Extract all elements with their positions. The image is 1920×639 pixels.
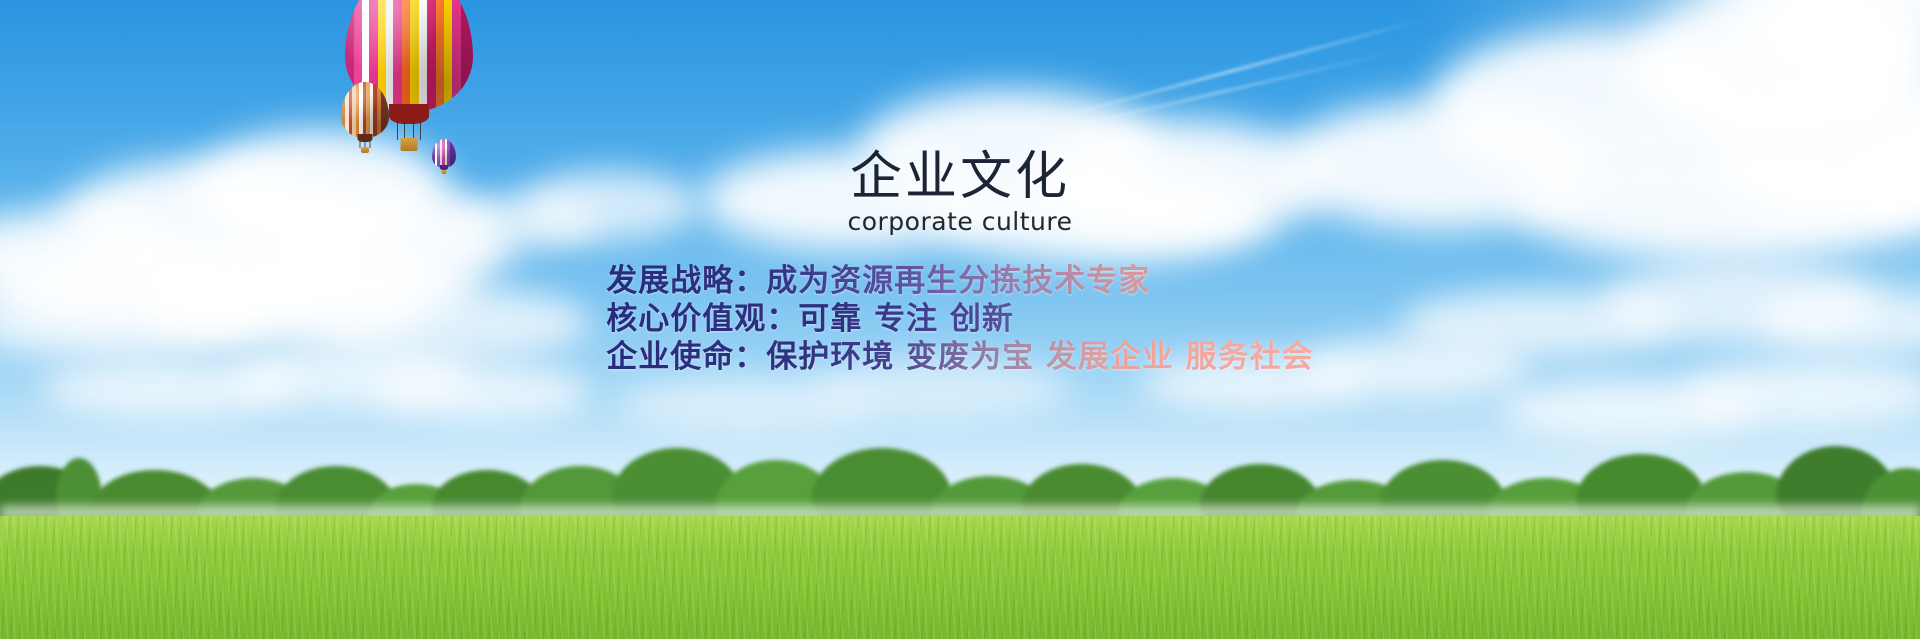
page-title: 企业文化 <box>0 150 1920 205</box>
balloon-envelope <box>341 82 389 138</box>
balloon-medium <box>341 82 389 154</box>
balloon-skirt <box>389 104 429 124</box>
page-subtitle: corporate culture <box>0 207 1920 236</box>
grass-field <box>0 516 1920 639</box>
statement-development-strategy: 发展战略：成为资源再生分拣技术专家 <box>606 262 1313 300</box>
sun-core-icon <box>1690 0 1920 120</box>
statement-core-values: 核心价值观：可靠 专注 创新 <box>606 300 1313 338</box>
statement-corporate-mission: 企业使命：保护环境 变废为宝 发展企业 服务社会 <box>606 338 1313 376</box>
corporate-culture-banner: 企业文化 corporate culture 发展战略：成为资源再生分拣技术专家… <box>0 0 1920 639</box>
statement-list: 发展战略：成为资源再生分拣技术专家 核心价值观：可靠 专注 创新 企业使命：保护… <box>606 262 1313 377</box>
banner-content: 企业文化 corporate culture 发展战略：成为资源再生分拣技术专家… <box>0 150 1920 377</box>
